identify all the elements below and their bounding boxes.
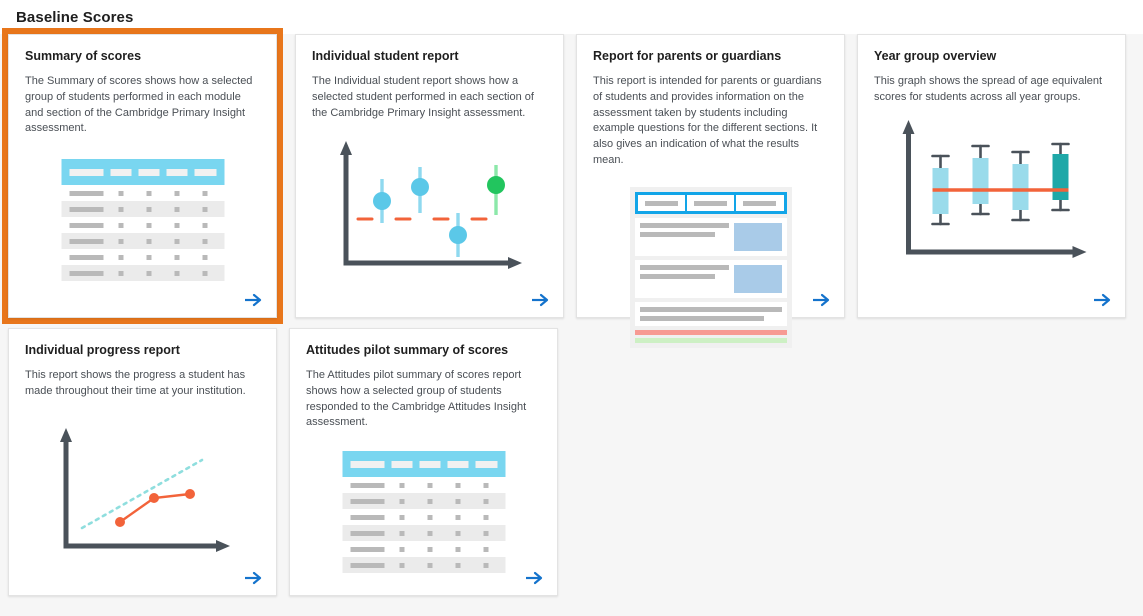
- card-description: This report shows the progress a student…: [25, 368, 260, 400]
- table-row: [342, 477, 505, 493]
- card-attitudes-pilot-summary-of-scores[interactable]: Attitudes pilot summary of scores The At…: [289, 328, 558, 596]
- document-image-block: [734, 223, 782, 251]
- open-report-arrow-icon[interactable]: [529, 289, 551, 311]
- document-content-row: [635, 260, 787, 298]
- table-header-cell: [476, 461, 497, 468]
- card-row-2: Individual progress report This report s…: [8, 328, 1135, 596]
- document-header-cell: [687, 195, 736, 211]
- card-description: The Summary of scores shows how a select…: [25, 74, 260, 138]
- table-row: [342, 525, 505, 541]
- open-report-arrow-icon[interactable]: [523, 567, 545, 589]
- document-content-row: [635, 218, 787, 256]
- table-row: [61, 217, 224, 233]
- card-individual-student-report[interactable]: Individual student report The Individual…: [295, 34, 564, 318]
- table-row: [61, 265, 224, 281]
- table-header-cell: [448, 461, 469, 468]
- table-header-cell: [69, 169, 103, 176]
- box-plot-box: [1012, 164, 1028, 210]
- card-title: Summary of scores: [25, 49, 260, 65]
- document-content-row: [635, 302, 787, 326]
- table-thumbnail: [61, 159, 224, 281]
- document-thumbnail: [630, 187, 792, 348]
- table-header-cell: [419, 461, 440, 468]
- card-description: This graph shows the spread of age equiv…: [874, 74, 1109, 106]
- open-report-arrow-icon[interactable]: [242, 289, 264, 311]
- card-year-group-overview[interactable]: Year group overview This graph shows the…: [857, 34, 1126, 318]
- card-illustration-box-plot: [874, 110, 1109, 308]
- table-header-cell: [167, 169, 188, 176]
- document-header: [635, 192, 787, 214]
- document-image-block: [734, 265, 782, 293]
- card-illustration-document: [593, 173, 828, 307]
- empty-grid-slot: [570, 328, 839, 596]
- card-year-group-overview-wrapper: Year group overview This graph shows the…: [857, 34, 1126, 318]
- card-attitudes-pilot-summary-wrapper: Attitudes pilot summary of scores The At…: [289, 328, 558, 596]
- table-row: [342, 509, 505, 525]
- table-row: [342, 541, 505, 557]
- box-plot-box: [972, 158, 988, 204]
- table-header-cell: [350, 461, 384, 468]
- card-individual-progress-report[interactable]: Individual progress report This report s…: [8, 328, 277, 596]
- card-individual-progress-report-wrapper: Individual progress report This report s…: [8, 328, 277, 596]
- card-report-for-parents-wrapper: Report for parents or guardians This rep…: [576, 34, 845, 318]
- scatter-whisker-thumbnail: [330, 135, 530, 285]
- report-card-grid: Summary of scores The Summary of scores …: [0, 34, 1143, 596]
- card-description: This report is intended for parents or g…: [593, 74, 828, 170]
- document-header-cell: [638, 195, 687, 211]
- table-header-cell: [138, 169, 159, 176]
- card-title: Report for parents or guardians: [593, 49, 828, 65]
- card-report-for-parents-or-guardians[interactable]: Report for parents or guardians This rep…: [576, 34, 845, 318]
- table-header-cell: [195, 169, 216, 176]
- card-illustration-table: [306, 435, 541, 585]
- box-plot-box: [1052, 154, 1068, 200]
- card-individual-student-report-wrapper: Individual student report The Individual…: [295, 34, 564, 318]
- card-summary-of-scores-wrapper: Summary of scores The Summary of scores …: [2, 28, 283, 324]
- table-row: [61, 185, 224, 201]
- card-illustration-table: [25, 141, 260, 307]
- table-row: [61, 233, 224, 249]
- document-header-cell: [736, 195, 783, 211]
- table-row: [61, 201, 224, 217]
- card-illustration-progress-line: [25, 404, 260, 586]
- table-row: [342, 557, 505, 573]
- box-plot-thumbnail: [884, 112, 1099, 287]
- page-title: Baseline Scores: [16, 9, 133, 26]
- card-row-1: Summary of scores The Summary of scores …: [8, 34, 1135, 318]
- card-title: Individual progress report: [25, 343, 260, 359]
- table-header-cell: [110, 169, 131, 176]
- table-row: [61, 249, 224, 265]
- card-title: Year group overview: [874, 49, 1109, 65]
- card-summary-of-scores[interactable]: Summary of scores The Summary of scores …: [8, 34, 277, 318]
- table-header-cell: [391, 461, 412, 468]
- table-header-row: [342, 451, 505, 477]
- card-description: The Attitudes pilot summary of scores re…: [306, 368, 541, 432]
- table-header-row: [61, 159, 224, 185]
- card-title: Individual student report: [312, 49, 547, 65]
- open-report-arrow-icon[interactable]: [1091, 289, 1113, 311]
- progress-line-thumbnail: [38, 418, 248, 578]
- card-illustration-scatter: [312, 125, 547, 307]
- open-report-arrow-icon[interactable]: [810, 289, 832, 311]
- card-description: The Individual student report shows how …: [312, 74, 547, 122]
- table-thumbnail: [342, 451, 505, 573]
- card-title: Attitudes pilot summary of scores: [306, 343, 541, 359]
- open-report-arrow-icon[interactable]: [242, 567, 264, 589]
- table-row: [342, 493, 505, 509]
- empty-grid-slot: [851, 328, 1120, 596]
